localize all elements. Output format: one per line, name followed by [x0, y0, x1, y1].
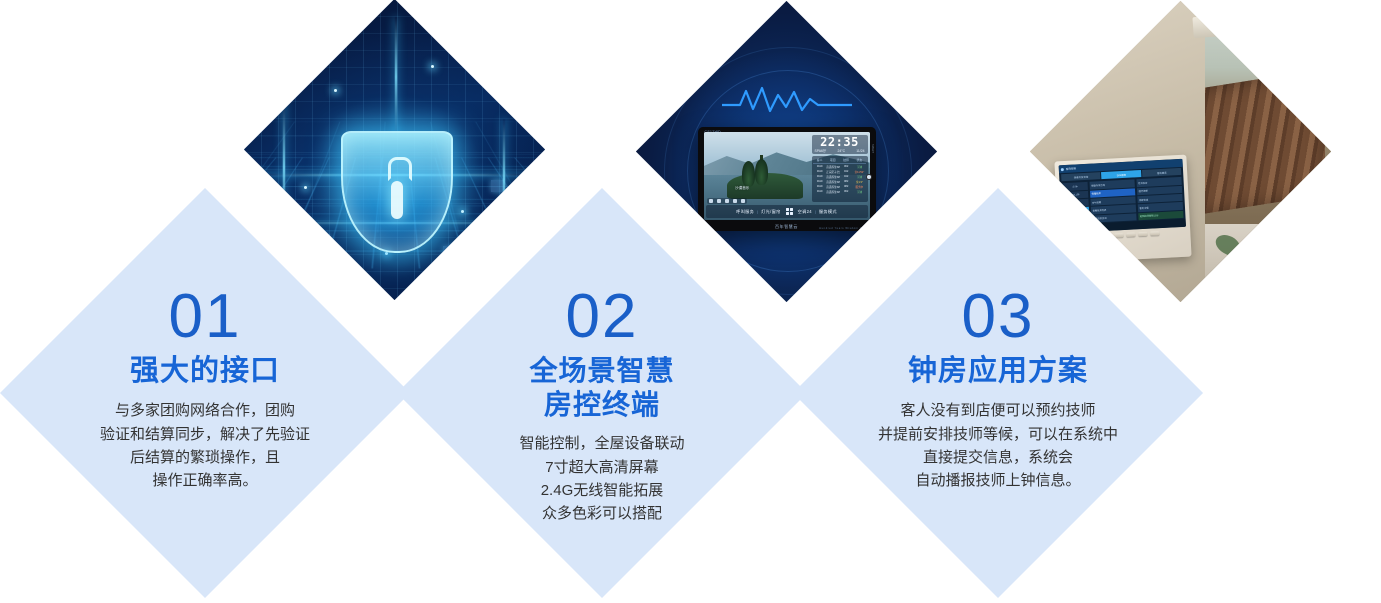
cell-item: 音道养生SPA [826, 165, 839, 169]
temperature-label: 24°C [838, 149, 846, 153]
panel-2-description: 智能控制，全屋设备联动 7寸超大高清屏幕 2.4G无线智能拓展 众多色彩可以搭配 [519, 432, 684, 525]
cell-item: 音道养生SPA [826, 190, 839, 194]
tablet-device: CS12WD 沙漠首乐 22:35 SPA6厅 [698, 127, 876, 231]
volume-icon[interactable] [733, 199, 737, 203]
brand-subtitle: Hundred Years Wisdom Cloud [819, 227, 869, 230]
panel-3-title: 钟房应用方案 [908, 354, 1088, 389]
play-icon[interactable] [717, 199, 721, 203]
hard-button[interactable] [1126, 232, 1135, 236]
wooden-screen-divider [1193, 69, 1325, 216]
light-spark [431, 65, 434, 68]
cell-item: 正宗足子全身髓疗 [826, 170, 839, 174]
panel-3-description: 客人没有到店便可以预约技师 并提前安排技师等候，可以在系统中 直接提交信息，系统… [878, 399, 1118, 492]
room-label: SPA6厅 [815, 148, 827, 153]
chip-block [470, 59, 486, 66]
light-spark [304, 186, 307, 189]
panel-1-description: 与多家团购网络合作，团购 验证和结算同步，解决了先验证 后结算的繁琐操作，且 操… [100, 399, 310, 492]
menu-icon[interactable] [1076, 226, 1080, 229]
col-guest: 客人 [813, 158, 826, 162]
table-row: 0119 音道养生SPA 062 下钟 [813, 189, 866, 194]
cell-item: 音道养生SPA [826, 185, 839, 189]
panel-1-title: 强大的接口 [130, 354, 280, 389]
cell-tech: 082 [840, 180, 853, 184]
cell-status: 服务中 [853, 185, 866, 189]
clock-time: 22:35 [814, 136, 866, 148]
panel-menu-columns: 保健专家咨询 保健技师 SPA招聘 查看技师列表 查看空机房间 足浴包房 理疗按… [1090, 177, 1184, 222]
table-row: 0119 音道养生SPA 062 下钟 [813, 164, 866, 169]
menu-column-right[interactable]: 足浴包房 理疗按摩 茶歇休息 客房冷暖 更新技师解锁13分 [1137, 177, 1184, 220]
tab-room-butler[interactable]: 客房管家 [1142, 168, 1182, 177]
cell-guest: 0119 [813, 175, 826, 179]
device-brand-footer: 百年智慧云 Hundred Years Wisdom Cloud [698, 224, 876, 230]
panel-2-title: 全场景智慧 房控终端 [529, 354, 674, 422]
cell-status: 下钟 [853, 190, 866, 194]
hard-button[interactable] [1150, 231, 1159, 235]
col-item: 项目 [826, 158, 839, 162]
chip-block [491, 180, 503, 192]
cell-status: 下钟 [853, 175, 866, 179]
cell-status: 余11'52" [853, 170, 866, 174]
wallpaper-tree [760, 155, 763, 185]
pulse-wave-icon [722, 85, 852, 115]
side-item-3[interactable]: 冷饮区 [1063, 207, 1090, 216]
plant-leaf [1234, 252, 1280, 289]
prev-icon[interactable] [709, 199, 713, 203]
light-spark [461, 210, 464, 213]
side-item-1[interactable]: CALL钟 [1062, 190, 1089, 199]
hard-button[interactable] [1138, 231, 1147, 235]
table-row: 0119 音道养生SPA 042 下钟 [813, 174, 866, 179]
physical-buttons-row[interactable] [1062, 229, 1186, 240]
floor [1187, 224, 1331, 302]
room-wall-panel-image: 客房控制 保健专家咨询 SPA服务 客房管家 点 钟 CALL钟 圈 钟 [1030, 1, 1331, 302]
cell-tech: 042 [840, 175, 853, 179]
light-icon[interactable] [741, 199, 745, 203]
hard-button[interactable] [1114, 232, 1123, 236]
table-row: 0119 正宗足子全身髓疗 042 余11'52" [813, 169, 866, 174]
holographic-shield-image [244, 0, 545, 300]
key-icon [391, 181, 403, 219]
bottom-dock[interactable]: 呼叫服务 | 灯光/窗帘 空调24 | 服务模式 [706, 205, 868, 218]
wallpaper-tree [747, 165, 750, 187]
panel-title: 客房控制 [1066, 166, 1077, 171]
side-item-2[interactable]: 圈 钟 [1063, 198, 1090, 207]
cell-guest: 0119 [813, 165, 826, 169]
infographic-diamond-grid: 01 强大的接口 与多家团购网络合作，团购 验证和结算同步，解决了先验证 后结算… [0, 0, 1381, 603]
panel-1-image-diamond [244, 0, 545, 300]
light-beam-vertical-right [503, 119, 505, 239]
wall-control-panel[interactable]: 客房控制 保健专家咨询 SPA服务 客房管家 点 钟 CALL钟 圈 钟 [1054, 154, 1192, 263]
chip-block [304, 234, 330, 242]
light-beam-vertical-center [395, 17, 397, 137]
panel-3-number: 03 [962, 286, 1035, 348]
cell-guest: 0119 [813, 190, 826, 194]
cell-status: 余1'4" [853, 180, 866, 184]
back-icon[interactable] [1064, 227, 1068, 230]
chip-block [443, 246, 461, 254]
camera-icon [867, 175, 871, 179]
plant-leaf [1273, 263, 1312, 299]
date-label: 11/24 [856, 149, 864, 153]
service-list-widget: 客人 项目 技师 状态 0119 音道养生SPA 062 下钟 [812, 156, 868, 202]
plant-leaf [1299, 212, 1328, 240]
cell-status: 下钟 [853, 165, 866, 169]
smart-tablet-image: CS12WD 沙漠首乐 22:35 SPA6厅 [636, 1, 937, 302]
home-button-icon[interactable] [1070, 227, 1074, 230]
menu-column-left[interactable]: 保健专家咨询 保健技师 SPA招聘 查看技师列表 查看空机房间 [1090, 179, 1137, 222]
side-item-4[interactable]: 点 钟 [1063, 215, 1090, 224]
panel-2-image-diamond: CS12WD 沙漠首乐 22:35 SPA6厅 [636, 1, 937, 302]
next-icon[interactable] [725, 199, 729, 203]
hard-button[interactable] [1102, 233, 1111, 237]
chip-block [271, 71, 293, 80]
cell-item: 音道养生SPA [826, 175, 839, 179]
scene-label: 沙漠首乐 [735, 186, 749, 191]
cell-tech: 082 [840, 185, 853, 189]
cell-item: 音道养生SPA [826, 180, 839, 184]
tab-spa-service[interactable]: SPA服务 [1102, 170, 1142, 179]
panel-sidebar[interactable]: 点 钟 CALL钟 圈 钟 冷饮区 点 钟 [1062, 182, 1091, 224]
dock-service-mode[interactable]: 服务模式 [819, 209, 837, 215]
clock-widget: 22:35 SPA6厅 24°C 11/24 [812, 135, 868, 154]
tab-health-consult[interactable]: 保健专家咨询 [1061, 172, 1101, 181]
cell-tech: 042 [840, 170, 853, 174]
cell-tech: 062 [840, 190, 853, 194]
panel-body: 点 钟 CALL钟 圈 钟 冷饮区 点 钟 保健专家咨询 保健技师 S [1060, 175, 1187, 225]
brand-name: 百年智慧云 [775, 224, 798, 229]
panel-3-image-diamond: 客房控制 保健专家咨询 SPA服务 客房管家 点 钟 CALL钟 圈 钟 [1030, 1, 1331, 302]
cell-guest: 0119 [813, 185, 826, 189]
dock-separator: | [815, 209, 816, 214]
device-side-label: SMART [871, 144, 874, 153]
control-panel-screen[interactable]: 客房控制 保健专家咨询 SPA服务 客房管家 点 钟 CALL钟 圈 钟 [1059, 158, 1187, 232]
panel-1-number: 01 [169, 286, 242, 348]
home-icon [1061, 167, 1064, 170]
clock-subinfo: SPA6厅 24°C 11/24 [814, 148, 866, 153]
side-item-0[interactable]: 点 钟 [1062, 182, 1089, 191]
tablet-screen: 沙漠首乐 22:35 SPA6厅 24°C 11/24 客人 [704, 132, 870, 220]
light-beam-vertical-left [283, 101, 285, 233]
dock-aircon[interactable]: 空调24 [798, 209, 812, 215]
media-controls[interactable] [707, 198, 747, 204]
menu-left-4[interactable]: 查看空机房间 [1092, 212, 1137, 222]
cell-tech: 062 [840, 165, 853, 169]
dock-call-service[interactable]: 呼叫服务 [736, 209, 754, 215]
menu-right-4[interactable]: 更新技师解锁13分 [1139, 210, 1184, 220]
table-row: 0119 音道养生SPA 082 服务中 [813, 184, 866, 189]
upper-wall-panel [1192, 9, 1314, 38]
cell-guest: 0119 [813, 180, 826, 184]
apps-grid-icon[interactable] [786, 208, 793, 215]
cell-guest: 0119 [813, 170, 826, 174]
hard-button[interactable] [1090, 234, 1099, 238]
dock-separator: | [757, 209, 758, 214]
col-tech: 技师 [840, 158, 853, 162]
col-status: 状态 [853, 158, 866, 162]
table-row: 0119 音道养生SPA 082 余1'4" [813, 179, 866, 184]
dock-light-curtain[interactable]: 灯光/窗帘 [761, 209, 780, 215]
panel-2-number: 02 [566, 286, 639, 348]
